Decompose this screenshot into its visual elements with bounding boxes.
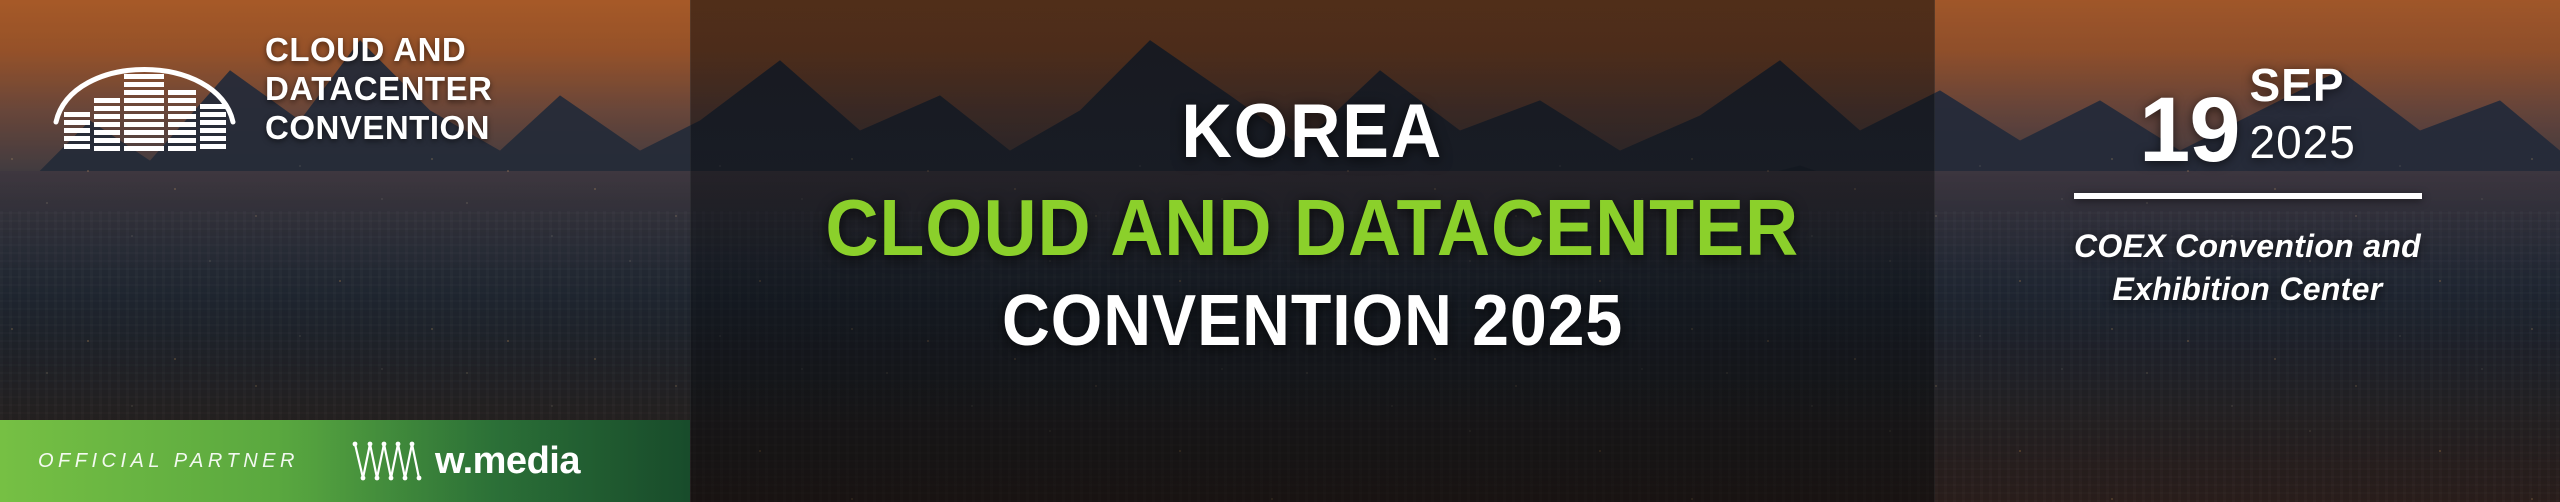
event-details: 19 SEP 2025 COEX Convention and Exhibiti…	[1935, 0, 2560, 502]
headline-line-cloud-and-datacenter: CLOUD AND DATACENTER	[826, 186, 1800, 270]
event-date-day: 19	[2139, 62, 2239, 173]
event-date-month: SEP	[2250, 62, 2345, 108]
convention-logo-wordmark: CLOUD AND DATACENTER CONVENTION	[265, 30, 492, 148]
logo-line-3: CONVENTION	[265, 108, 492, 147]
event-venue: COEX Convention and Exhibition Center	[2074, 225, 2421, 311]
headline-line-korea: KOREA	[1182, 94, 1444, 170]
event-date-year: 2025	[2250, 116, 2356, 169]
event-date: 19 SEP 2025	[2139, 62, 2356, 173]
event-venue-line-2: Exhibition Center	[2074, 268, 2421, 311]
official-partner-label: OFFICIAL PARTNER	[38, 450, 299, 473]
event-venue-line-1: COEX Convention and	[2074, 225, 2421, 268]
headline-line-convention-2025: CONVENTION 2025	[1002, 284, 1623, 360]
wave-zigzag-icon	[351, 438, 423, 484]
datacenter-arch-logo-icon	[42, 26, 247, 151]
divider-rule	[2074, 193, 2422, 199]
event-date-month-year: SEP 2025	[2250, 62, 2356, 169]
logo-line-2: DATACENTER	[265, 69, 492, 108]
official-partner-bar: OFFICIAL PARTNER w.media	[0, 420, 690, 502]
wmedia-wordmark: w.media	[435, 442, 580, 480]
convention-logo[interactable]: CLOUD AND DATACENTER CONVENTION	[42, 26, 492, 151]
logo-line-1: CLOUD AND	[265, 30, 492, 69]
event-banner: CLOUD AND DATACENTER CONVENTION KOREA CL…	[0, 0, 2560, 502]
event-headline: KOREA CLOUD AND DATACENTER CONVENTION 20…	[690, 0, 1935, 502]
wmedia-logo[interactable]: w.media	[351, 438, 580, 484]
